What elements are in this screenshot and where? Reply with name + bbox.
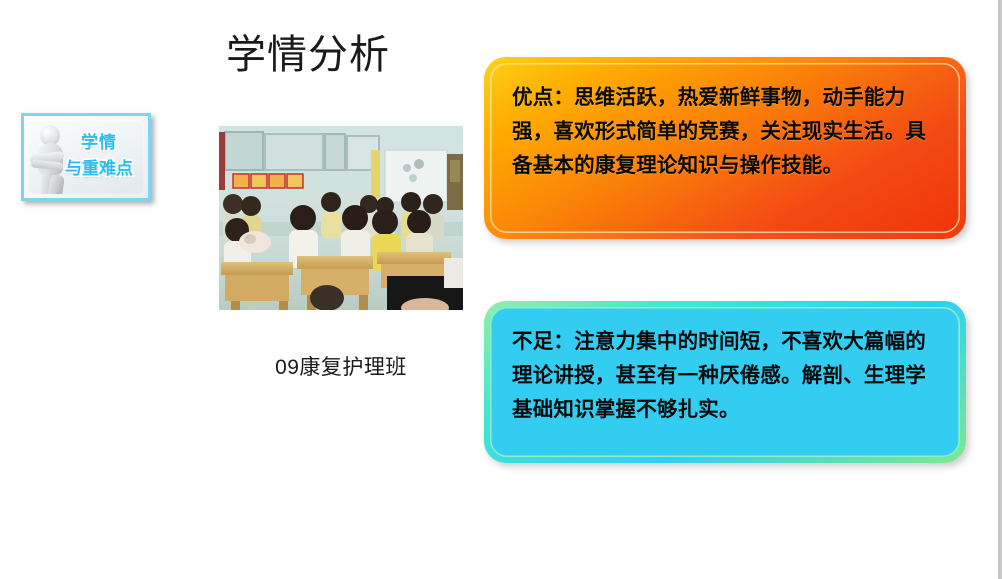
callout-cons-body: 不足：注意力集中的时间短，不喜欢大篇幅的理论讲授，甚至有一种厌倦感。解剖、生理学… — [490, 307, 960, 457]
classroom-photo-image — [219, 126, 463, 310]
nav-badge-label-line2: 与重难点 — [59, 156, 139, 182]
callout-pros-text: 优点：思维活跃，热爱新鲜事物，动手能力强，喜欢形式简单的竞赛，关注现实生活。具备… — [512, 81, 942, 183]
callout-cons-text: 不足：注意力集中的时间短，不喜欢大篇幅的理论讲授，甚至有一种厌倦感。解剖、生理学… — [512, 325, 942, 427]
classroom-photo — [219, 126, 463, 310]
callout-pros-body: 优点：思维活跃，热爱新鲜事物，动手能力强，喜欢形式简单的竞赛，关注现实生活。具备… — [490, 63, 960, 233]
callout-cons: 不足：注意力集中的时间短，不喜欢大篇幅的理论讲授，甚至有一种厌倦感。解剖、生理学… — [484, 301, 966, 463]
nav-badge-label: 学情 与重难点 — [59, 130, 139, 182]
nav-badge-label-line1: 学情 — [59, 130, 139, 156]
sidebar-item-xueqing-badge[interactable]: 学情 与重难点 — [21, 113, 151, 201]
nav-badge-inner: 学情 与重难点 — [28, 120, 144, 194]
photo-caption: 09康复护理班 — [219, 351, 463, 381]
callout-pros: 优点：思维活跃，热爱新鲜事物，动手能力强，喜欢形式简单的竞赛，关注现实生活。具备… — [484, 57, 966, 239]
page-title: 学情分析 — [226, 29, 390, 81]
slide-right-border — [998, 0, 1000, 579]
presentation-slide: 学情分析 学情 与重难点 — [0, 0, 1002, 579]
